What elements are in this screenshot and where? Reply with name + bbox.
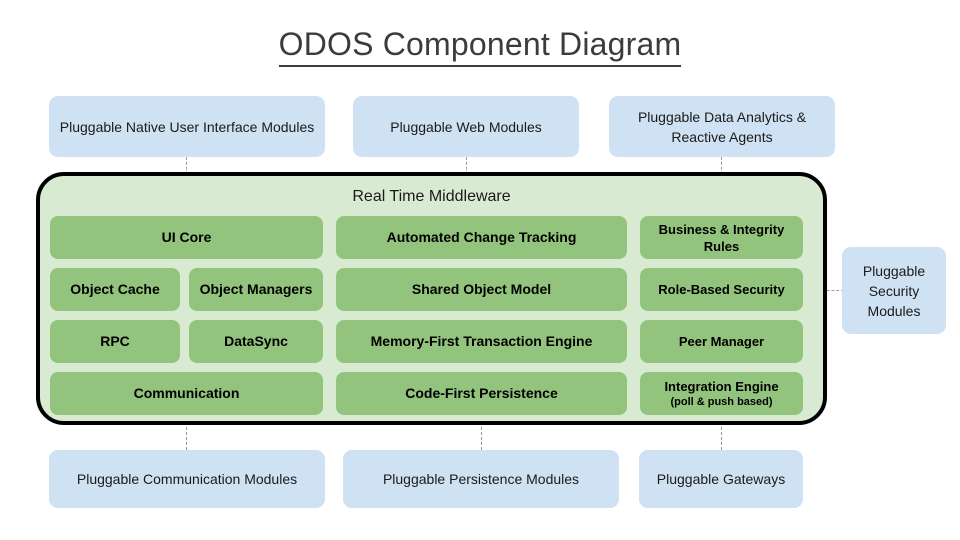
pluggable-persistence-modules[interactable]: Pluggable Persistence Modules [343, 450, 619, 508]
integration-engine-label: Integration Engine [664, 378, 778, 395]
page-title: ODOS Component Diagram [0, 24, 960, 64]
pluggable-native-ui-modules[interactable]: Pluggable Native User Interface Modules [49, 96, 325, 157]
component-code-first-persistence[interactable]: Code-First Persistence [336, 372, 627, 415]
component-communication[interactable]: Communication [50, 372, 323, 415]
pluggable-communication-modules[interactable]: Pluggable Communication Modules [49, 450, 325, 508]
pluggable-gateways[interactable]: Pluggable Gateways [639, 450, 803, 508]
page-title-text: ODOS Component Diagram [279, 26, 682, 67]
pluggable-web-modules[interactable]: Pluggable Web Modules [353, 96, 579, 157]
component-peer-manager[interactable]: Peer Manager [640, 320, 803, 363]
middleware-title: Real Time Middleware [40, 186, 823, 208]
component-integration-engine[interactable]: Integration Engine (poll & push based) [640, 372, 803, 415]
component-shared-object-model[interactable]: Shared Object Model [336, 268, 627, 311]
pluggable-data-analytics-modules[interactable]: Pluggable Data Analytics & Reactive Agen… [609, 96, 835, 157]
component-ui-core[interactable]: UI Core [50, 216, 323, 259]
component-business-integrity-rules[interactable]: Business & Integrity Rules [640, 216, 803, 259]
pluggable-security-modules[interactable]: Pluggable Security Modules [842, 247, 946, 334]
integration-engine-sublabel: (poll & push based) [670, 395, 772, 409]
component-datasync[interactable]: DataSync [189, 320, 323, 363]
component-object-managers[interactable]: Object Managers [189, 268, 323, 311]
component-automated-change-tracking[interactable]: Automated Change Tracking [336, 216, 627, 259]
component-object-cache[interactable]: Object Cache [50, 268, 180, 311]
component-rpc[interactable]: RPC [50, 320, 180, 363]
component-memory-first-transaction-engine[interactable]: Memory-First Transaction Engine [336, 320, 627, 363]
diagram-canvas: ODOS Component Diagram Pluggable Native … [0, 0, 960, 540]
component-role-based-security[interactable]: Role-Based Security [640, 268, 803, 311]
